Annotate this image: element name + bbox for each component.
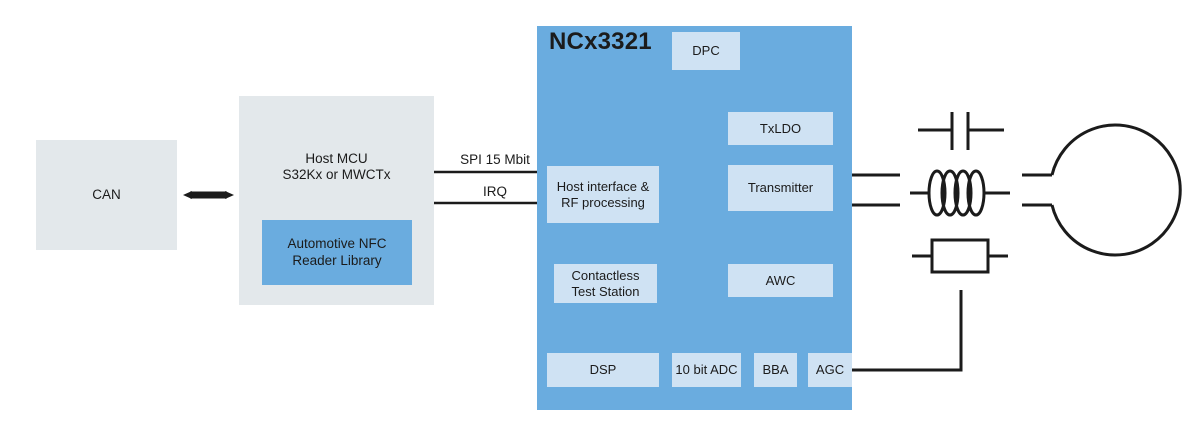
chip-title: NCx3321 bbox=[549, 28, 652, 56]
spi-wire-label: SPI 15 Mbit bbox=[440, 152, 550, 167]
nfc-reader-library-block[interactable]: Automotive NFC Reader Library bbox=[262, 220, 412, 285]
agc-block[interactable]: AGC bbox=[808, 353, 852, 387]
agc-label: AGC bbox=[816, 362, 844, 378]
host-interface-label: Host interface & RF processing bbox=[557, 179, 650, 211]
awc-block[interactable]: AWC bbox=[728, 264, 833, 297]
resistor-icon bbox=[912, 240, 1008, 272]
contactless-test-station-block[interactable]: Contactless Test Station bbox=[554, 264, 657, 303]
transmitter-label: Transmitter bbox=[748, 180, 813, 196]
txldo-block[interactable]: TxLDO bbox=[728, 112, 833, 145]
antenna-loop-icon bbox=[1052, 125, 1180, 255]
dsp-label: DSP bbox=[590, 362, 617, 378]
dpc-label: DPC bbox=[692, 43, 719, 59]
agc-to-matching-network-wire bbox=[843, 290, 961, 370]
adc-block[interactable]: 10 bit ADC bbox=[672, 353, 741, 387]
nfc-reader-library-label: Automotive NFC Reader Library bbox=[287, 236, 386, 269]
can-label: CAN bbox=[92, 187, 121, 203]
dsp-block[interactable]: DSP bbox=[547, 353, 659, 387]
bba-block[interactable]: BBA bbox=[754, 353, 797, 387]
txldo-label: TxLDO bbox=[760, 121, 801, 137]
dpc-block[interactable]: DPC bbox=[672, 32, 740, 70]
awc-label: AWC bbox=[766, 273, 796, 289]
host-interface-block[interactable]: Host interface & RF processing bbox=[547, 166, 659, 223]
capacitor-icon bbox=[918, 112, 1004, 150]
irq-wire-label: IRQ bbox=[440, 184, 550, 199]
inductor-icon bbox=[910, 171, 1010, 215]
transmitter-block[interactable]: Transmitter bbox=[728, 165, 833, 211]
block-diagram-canvas: CAN Host MCU S32Kx or MWCTx Automotive N… bbox=[0, 0, 1200, 437]
adc-label: 10 bit ADC bbox=[675, 362, 737, 378]
host-mcu-label: Host MCU S32Kx or MWCTx bbox=[282, 151, 390, 184]
can-module[interactable]: CAN bbox=[36, 140, 177, 250]
bba-label: BBA bbox=[762, 362, 788, 378]
contactless-test-station-label: Contactless Test Station bbox=[572, 268, 640, 300]
